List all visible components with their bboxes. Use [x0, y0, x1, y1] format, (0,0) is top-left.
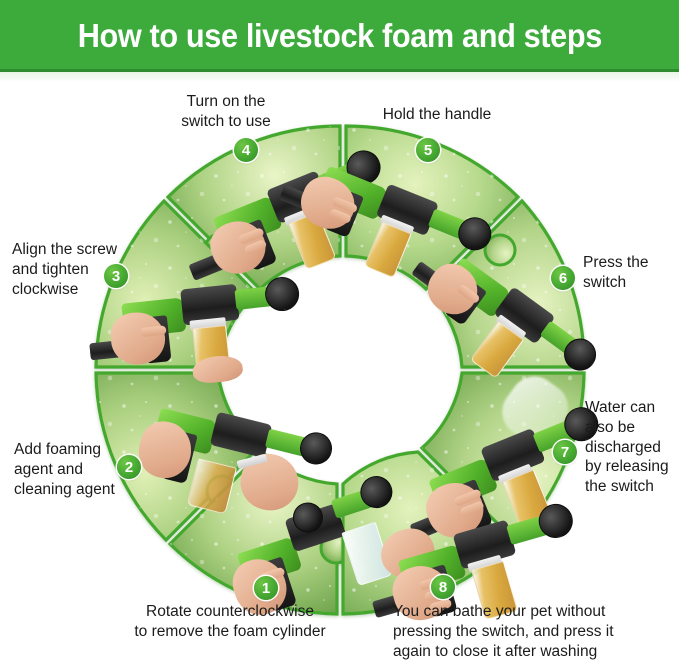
step-badge-1[interactable]: 1	[254, 576, 278, 600]
step-badge-5[interactable]: 5	[416, 138, 440, 162]
step-badge-4[interactable]: 4	[234, 138, 258, 162]
step-badge-6[interactable]: 6	[551, 266, 575, 290]
step-5-caption: Hold the handle	[362, 105, 512, 125]
step-badge-8[interactable]: 8	[431, 575, 455, 599]
step-badge-3[interactable]: 3	[104, 264, 128, 288]
step-1-caption: Rotate counterclockwise to remove the fo…	[105, 602, 355, 642]
circular-puzzle-ring: 4 5 3 6 2 7 1 8	[70, 120, 610, 620]
step-badge-7[interactable]: 7	[553, 440, 577, 464]
step-4-caption: Turn on the switch to use	[156, 92, 296, 132]
banner-underglow	[0, 72, 679, 82]
step-8-caption: You can bathe your pet without pressing …	[393, 602, 673, 661]
page-title: How to use livestock foam and steps	[77, 17, 601, 55]
step-badge-2[interactable]: 2	[117, 455, 141, 479]
step-7-caption: Water can also be discharged by releasin…	[585, 398, 679, 497]
step-6-caption: Press the switch	[583, 253, 679, 293]
puzzle-ring-svg	[70, 120, 610, 620]
title-banner: How to use livestock foam and steps	[0, 0, 679, 72]
